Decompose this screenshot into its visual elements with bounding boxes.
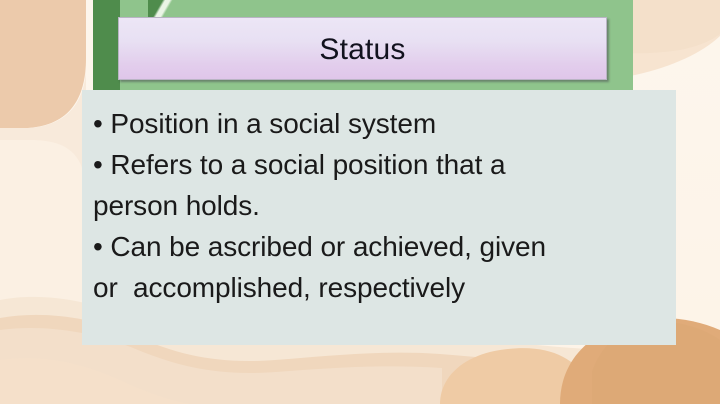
bullet-line: • Refers to a social position that a: [93, 144, 673, 185]
background-shape-bottom-right-light: [440, 348, 720, 404]
bullet-line: or accomplished, respectively: [93, 267, 673, 308]
slide-bullet-list: • Position in a social system • Refers t…: [93, 103, 673, 308]
slide-title-plate: Status: [118, 17, 607, 80]
background-shape-top-left: [0, 0, 86, 128]
slide-content-panel: • Position in a social system • Refers t…: [82, 90, 676, 345]
slide-title: Status: [319, 35, 405, 65]
bullet-line: • Can be ascribed or achieved, given: [93, 226, 673, 267]
presentation-slide: Status • Position in a social system • R…: [0, 0, 720, 404]
bullet-line: person holds.: [93, 185, 673, 226]
background-shape-top-left-fade: [0, 70, 86, 176]
bullet-line: • Position in a social system: [93, 103, 673, 144]
background-shape-left-band: [0, 140, 86, 404]
title-band-left-edge: [93, 0, 120, 90]
background-shape-bottom-left: [0, 358, 190, 404]
